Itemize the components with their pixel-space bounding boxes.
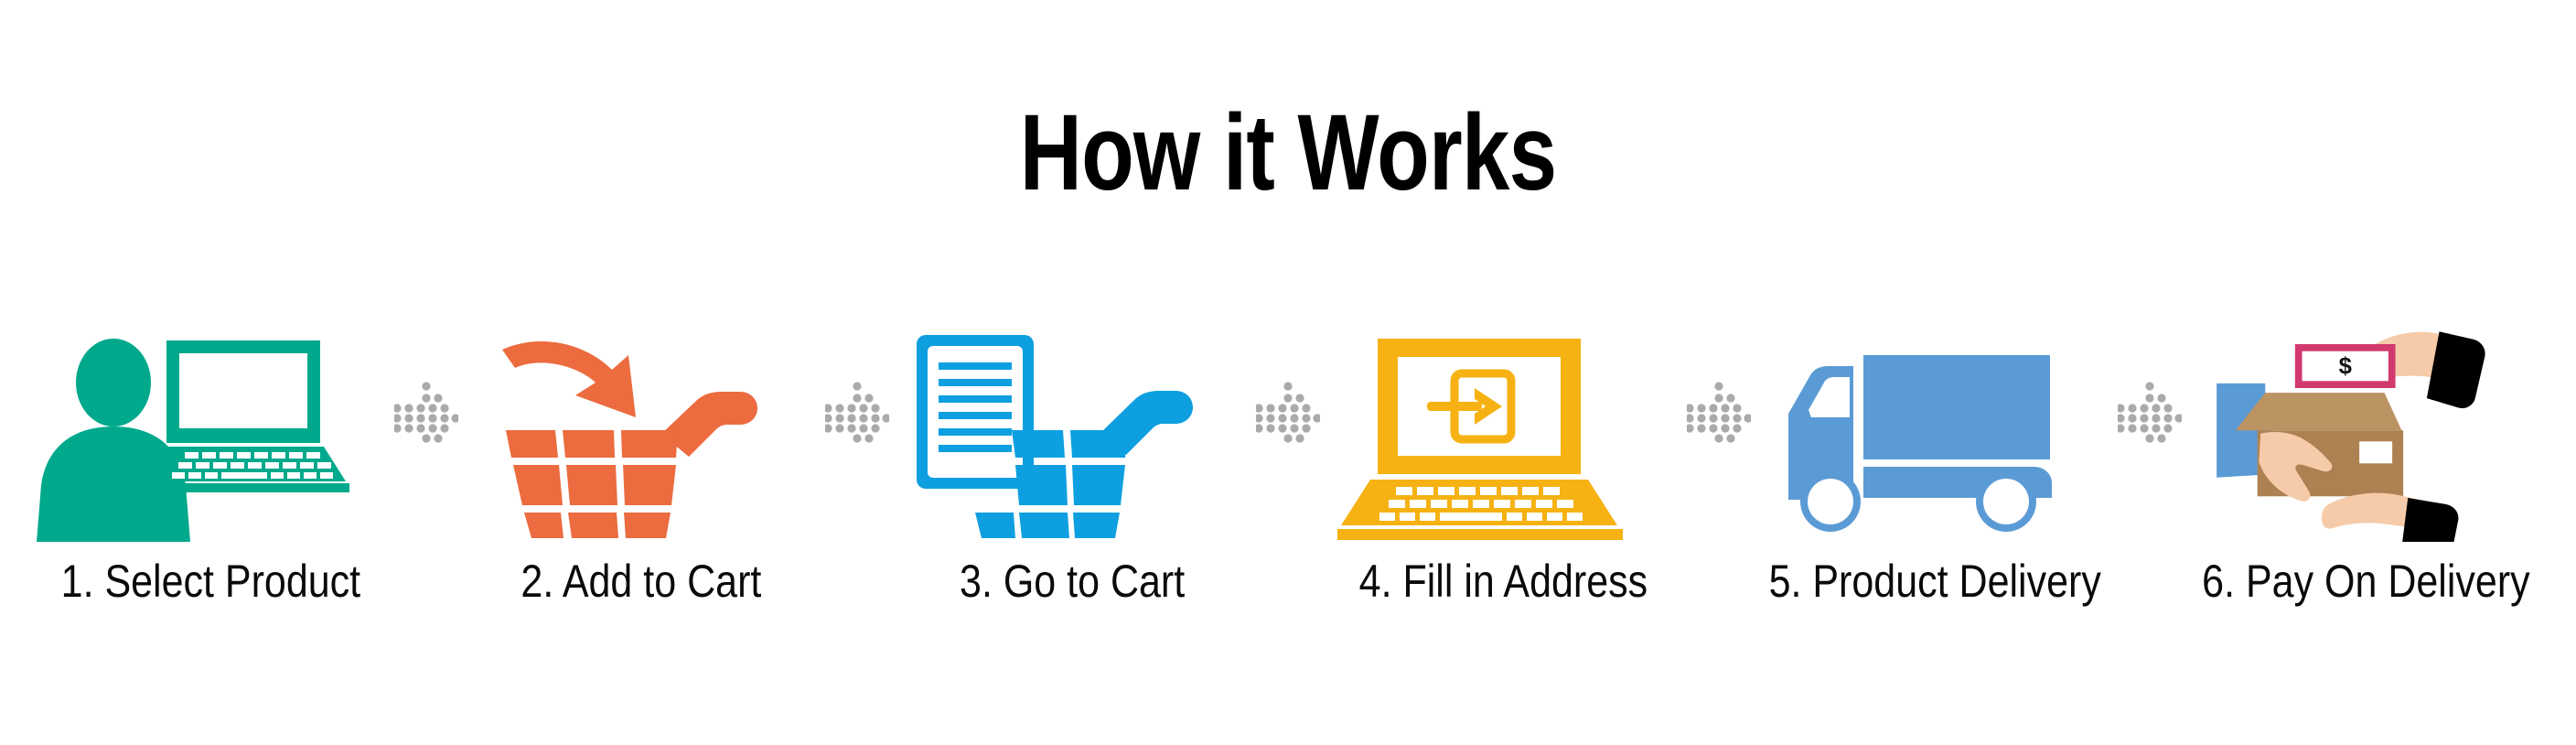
dotted-arrow-right-icon [1252,302,1324,522]
step-2-label: 2. Add to Cart [521,558,762,604]
step-5-label: 5. Product Delivery [1768,558,2100,604]
step-5-product-delivery[interactable]: 5. Product Delivery [1761,302,2109,604]
laptop-with-login-arrow-icon [1330,322,1678,542]
step-2-add-to-cart[interactable]: 2. Add to Cart [467,302,815,604]
page-title: How it Works [258,99,2319,207]
step-1-label: 1. Select Product [60,558,360,604]
dotted-arrow-right-icon [391,302,462,522]
dotted-arrow-right-icon [821,302,893,522]
steps-row: 1. Select Product [37,302,2539,604]
step-4-label: 4. Fill in Address [1359,558,1648,604]
step-4-fill-in-address[interactable]: 4. Fill in Address [1330,302,1678,604]
delivery-truck-icon [1761,322,2109,542]
document-with-cart-icon [898,322,1246,542]
how-it-works-infographic: How it Works [0,0,2576,745]
step-3-go-to-cart[interactable]: 3. Go to Cart [898,302,1246,604]
step-1-select-product[interactable]: 1. Select Product [37,302,384,604]
dotted-arrow-right-icon [2114,302,2185,522]
hands-exchanging-box-and-money-icon: $ [2192,322,2539,542]
person-with-laptop-icon [37,322,384,542]
step-3-label: 3. Go to Cart [960,558,1185,604]
money-dollar-symbol: $ [2339,354,2352,380]
step-6-label: 6. Pay On Delivery [2202,558,2529,604]
dotted-arrow-right-icon [1683,302,1755,522]
arrow-into-shopping-cart-icon [467,322,815,542]
step-6-pay-on-delivery[interactable]: $ [2192,302,2539,604]
